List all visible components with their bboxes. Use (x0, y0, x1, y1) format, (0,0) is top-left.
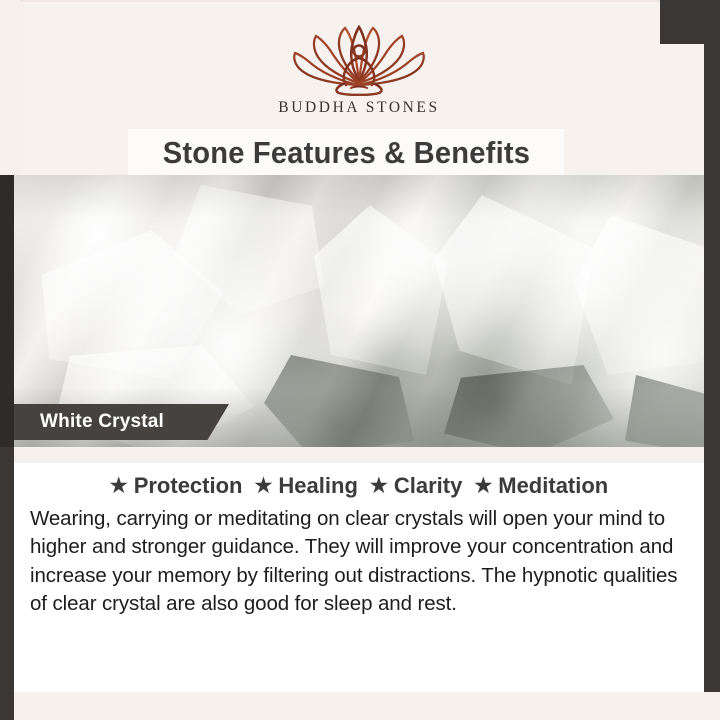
brand-name: BUDDHA STONES (278, 99, 439, 117)
lotus-meditation-icon (284, 22, 434, 96)
benefit-item-healing: ★ Healing (248, 473, 363, 499)
benefit-label: Protection (134, 473, 243, 499)
content-panel: ★ Protection ★ Healing ★ Clarity ★ Medit… (14, 447, 704, 692)
benefit-label: Meditation (498, 473, 608, 499)
benefit-item-meditation: ★ Meditation (468, 473, 614, 499)
benefits-row: ★ Protection ★ Healing ★ Clarity ★ Medit… (14, 463, 704, 509)
star-icon: ★ (110, 476, 128, 496)
title-band: Stone Features & Benefits (128, 129, 564, 177)
infographic-card: BUDDHA STONES Stone Features & Benefits … (0, 0, 720, 720)
star-icon: ★ (254, 476, 272, 496)
benefit-label: Healing (278, 473, 357, 499)
benefit-item-protection: ★ Protection (104, 473, 249, 499)
page-title: Stone Features & Benefits (162, 135, 529, 171)
bottom-strip (14, 692, 720, 720)
photo-caption-banner: White Crystal (14, 404, 229, 440)
star-icon: ★ (370, 476, 388, 496)
photo-caption-label: White Crystal (40, 411, 164, 433)
description-text: Wearing, carrying or meditating on clear… (30, 505, 690, 619)
panel-top-strip (14, 447, 704, 463)
bottom-left-border (0, 660, 14, 720)
top-right-border (660, 0, 720, 44)
benefit-label: Clarity (394, 473, 462, 499)
photo-left-border (0, 175, 14, 447)
brand-logo: BUDDHA STONES (14, 22, 704, 117)
right-border (704, 0, 720, 692)
star-icon: ★ (474, 476, 492, 496)
benefit-item-clarity: ★ Clarity (364, 473, 468, 499)
